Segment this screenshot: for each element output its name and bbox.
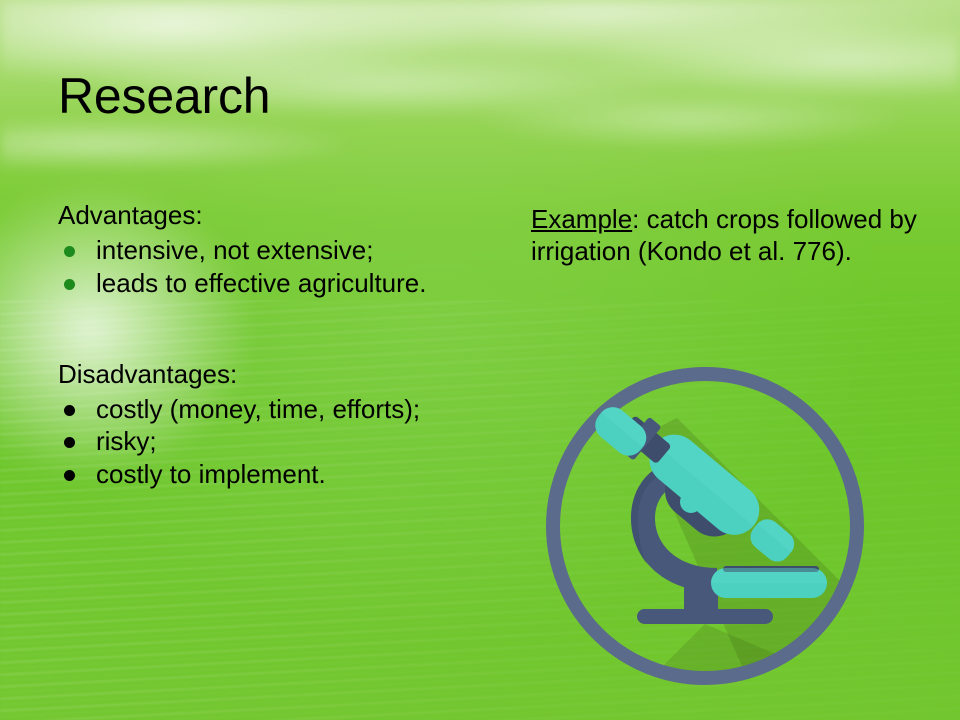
left-text-column: Advantages: intensive, not extensive; le…: [58, 200, 498, 492]
list-item-label: risky;: [96, 426, 157, 456]
list-item: leads to effective agriculture.: [58, 268, 498, 299]
list-item: risky;: [58, 426, 498, 457]
list-item-label: costly to implement.: [96, 459, 326, 489]
bullet-dot-icon: [64, 437, 75, 448]
microscope-stage-highlight: [711, 568, 827, 583]
advantages-list: intensive, not extensive; leads to effec…: [58, 235, 498, 298]
bullet-dot-icon: [64, 470, 75, 481]
list-item-label: costly (money, time, efforts);: [96, 394, 420, 424]
list-item-label: leads to effective agriculture.: [96, 268, 426, 298]
example-label: Example: [531, 204, 632, 234]
disadvantages-heading: Disadvantages:: [58, 359, 498, 390]
slide: Research Advantages: intensive, not exte…: [0, 0, 960, 720]
column-spacer: [58, 301, 498, 359]
example-separator: :: [632, 204, 646, 234]
slide-content: Research Advantages: intensive, not exte…: [0, 0, 960, 720]
example-paragraph: Example: catch crops followed by irrigat…: [531, 204, 931, 267]
list-item: costly to implement.: [58, 459, 498, 490]
disadvantages-list: costly (money, time, efforts); risky; co…: [58, 394, 498, 490]
list-item-label: intensive, not extensive;: [96, 235, 374, 265]
microscope-illustration: [545, 366, 865, 686]
advantages-heading: Advantages:: [58, 200, 498, 231]
bullet-dot-icon: [64, 405, 75, 416]
list-item: costly (money, time, efforts);: [58, 394, 498, 425]
page-title: Research: [58, 70, 270, 123]
bullet-dot-icon: [64, 246, 75, 257]
right-text-column: Example: catch crops followed by irrigat…: [531, 204, 931, 267]
list-item: intensive, not extensive;: [58, 235, 498, 266]
bullet-dot-icon: [64, 279, 75, 290]
